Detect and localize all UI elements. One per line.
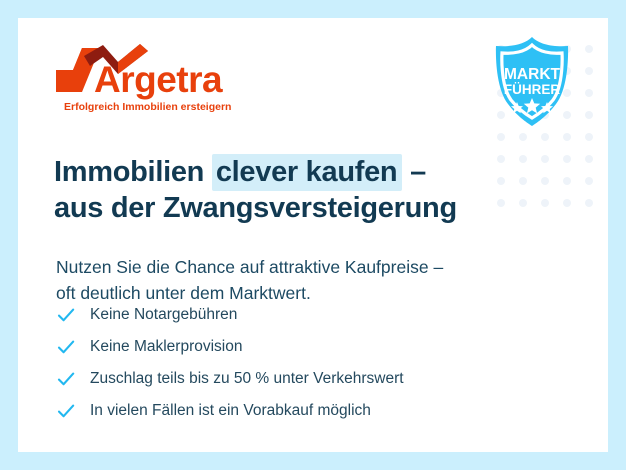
decorative-dot xyxy=(519,133,527,141)
benefit-label: Keine Maklerprovision xyxy=(90,339,243,355)
check-icon xyxy=(56,337,76,357)
list-item: Keine Maklerprovision xyxy=(56,331,404,363)
badge-line-1: MARKT xyxy=(504,66,560,83)
decorative-dot xyxy=(585,177,593,185)
headline-line-2: aus der Zwangsversteigerung xyxy=(54,191,524,226)
decorative-dot xyxy=(585,155,593,163)
headline-highlight: clever kaufen xyxy=(212,154,403,191)
decorative-dot xyxy=(541,177,549,185)
decorative-dot xyxy=(563,177,571,185)
decorative-dot xyxy=(541,155,549,163)
decorative-dot xyxy=(563,133,571,141)
svg-text:Argetra: Argetra xyxy=(94,59,223,100)
benefit-label: Keine Notargebühren xyxy=(90,307,237,323)
subheadline-line-1: Nutzen Sie die Chance auf attraktive Kau… xyxy=(56,254,556,280)
promo-banner: Argetra Erfolgreich Immobilien ersteiger… xyxy=(18,18,608,452)
benefit-label: Zuschlag teils bis zu 50 % unter Verkehr… xyxy=(90,371,404,387)
decorative-dot xyxy=(497,133,505,141)
decorative-dot xyxy=(585,89,593,97)
list-item: Zuschlag teils bis zu 50 % unter Verkehr… xyxy=(56,363,404,395)
headline-part-post: – xyxy=(402,156,426,188)
marktfuehrer-badge: MARKT FÜHRER xyxy=(484,34,580,130)
headline: Immobilien clever kaufen – aus der Zwang… xyxy=(54,155,524,226)
decorative-dot xyxy=(541,199,549,207)
list-item: Keine Notargebühren xyxy=(56,299,404,331)
decorative-dot xyxy=(563,155,571,163)
headline-part-pre: Immobilien xyxy=(54,156,212,188)
check-icon xyxy=(56,305,76,325)
check-icon xyxy=(56,401,76,421)
list-item: In vielen Fällen ist ein Vorabkauf mögli… xyxy=(56,395,404,427)
decorative-dot xyxy=(563,199,571,207)
headline-line-1: Immobilien clever kaufen – xyxy=(54,155,524,190)
argetra-logo: Argetra Erfolgreich Immobilien ersteiger… xyxy=(56,40,256,118)
decorative-dot xyxy=(585,45,593,53)
benefit-label: In vielen Fällen ist ein Vorabkauf mögli… xyxy=(90,403,371,419)
decorative-dot xyxy=(585,133,593,141)
decorative-dot xyxy=(541,133,549,141)
decorative-dot xyxy=(585,199,593,207)
decorative-dot xyxy=(585,111,593,119)
logo-tagline: Erfolgreich Immobilien ersteigern xyxy=(64,101,231,113)
badge-line-2: FÜHRER xyxy=(504,82,560,97)
benefit-list: Keine NotargebührenKeine Maklerprovision… xyxy=(56,299,404,427)
decorative-dot xyxy=(585,67,593,75)
check-icon xyxy=(56,369,76,389)
